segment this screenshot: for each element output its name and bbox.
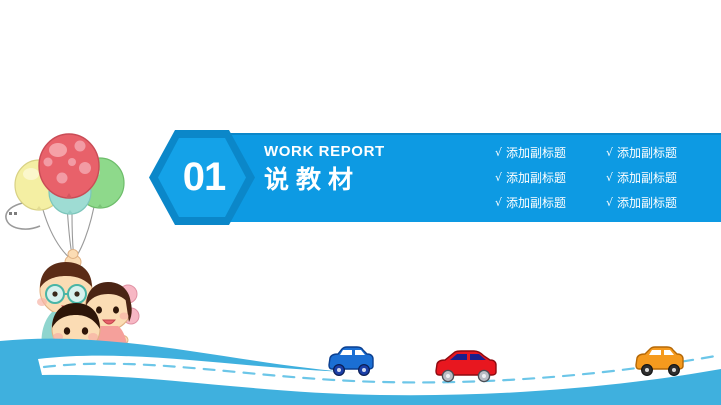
check-icon: √ [495,171,502,184]
checklist-item[interactable]: √ 添加副标题 [495,190,598,215]
banner-top-edge [176,133,721,135]
check-icon: √ [495,196,502,209]
check-icon: √ [495,146,502,159]
road-with-cars-scene [0,325,721,405]
checklist-item-label: 添加副标题 [617,194,677,211]
checklist-item[interactable]: √ 添加副标题 [606,140,709,165]
balloon-red-spotted-icon [39,134,99,198]
heading-english: WORK REPORT [264,142,454,162]
checklist-item[interactable]: √ 添加副标题 [495,165,598,190]
check-icon: √ [606,171,613,184]
checklist-item-label: 添加副标题 [506,194,566,211]
heading-block: WORK REPORT 说教材 [264,142,454,196]
checklist-item[interactable]: √ 添加副标题 [495,140,598,165]
heading-chinese: 说教材 [264,164,454,196]
checklist-item-label: 添加副标题 [506,144,566,161]
checklist-item[interactable]: √ 添加副标题 [606,190,709,215]
car-blue-icon [329,347,373,375]
checklist-item-label: 添加副标题 [506,169,566,186]
checklist-item-label: 添加副标题 [617,144,677,161]
section-number: 01 [147,128,257,227]
subtitle-checklist: √ 添加副标题 √ 添加副标题 √ 添加副标题 √ 添加副标题 √ 添加副标题 … [495,140,721,215]
checklist-item-label: 添加副标题 [617,169,677,186]
check-icon: √ [606,196,613,209]
check-icon: √ [606,146,613,159]
slide-canvas: 01 WORK REPORT 说教材 √ 添加副标题 √ 添加副标题 √ 添加副… [0,0,721,405]
checklist-item[interactable]: √ 添加副标题 [606,165,709,190]
